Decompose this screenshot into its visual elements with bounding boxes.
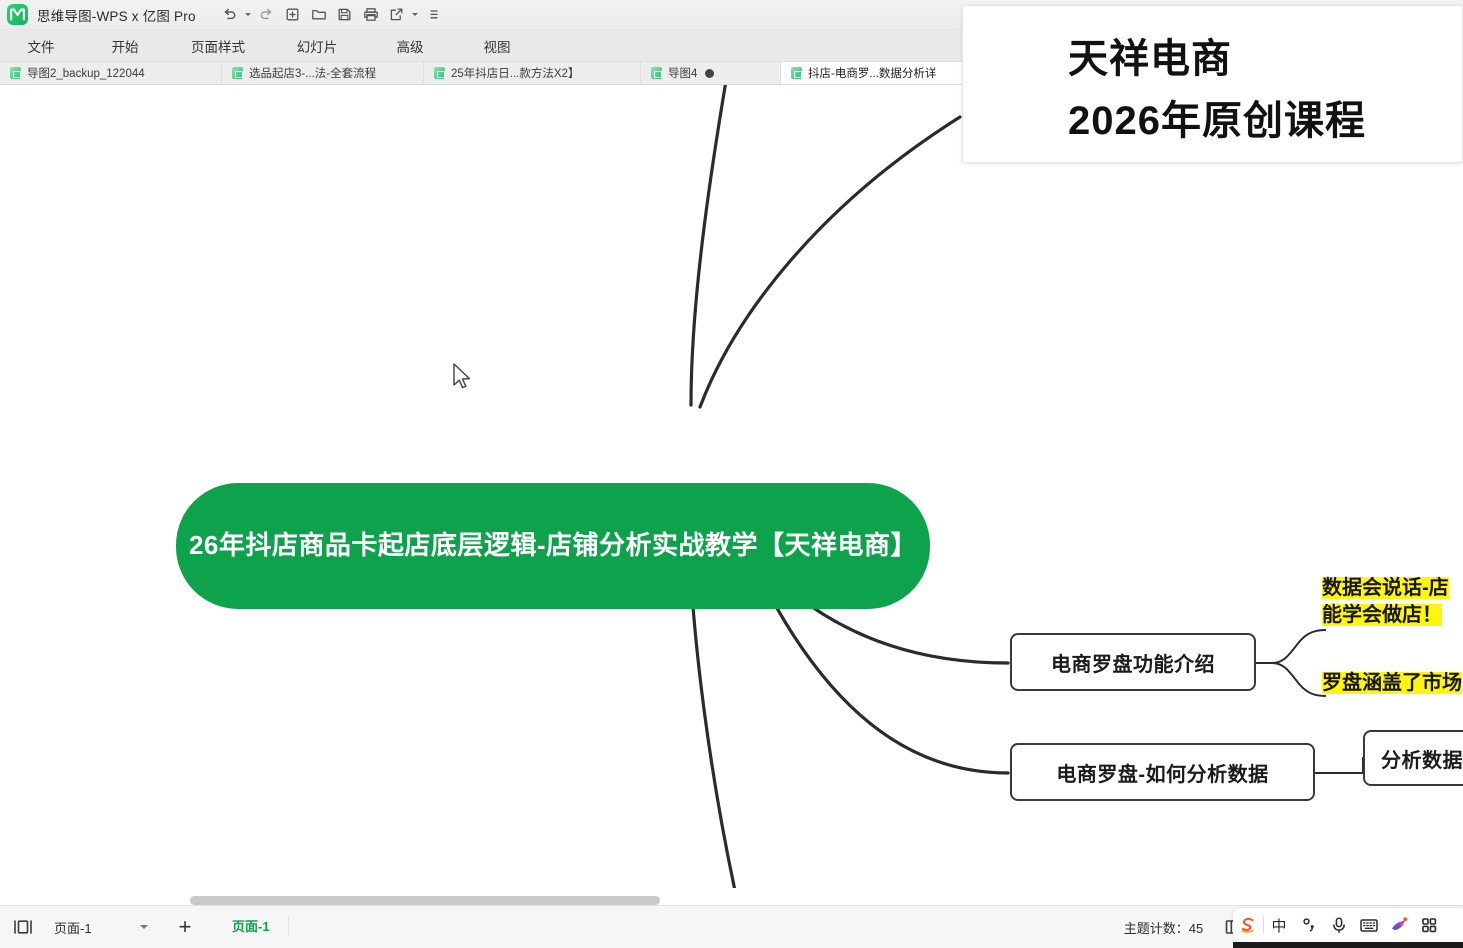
doc-tab-1[interactable]: 选品起店3-...法-全套流程 [222, 62, 424, 84]
chevron-down-icon [140, 925, 148, 929]
document-icon [651, 67, 662, 79]
doc-tab-label: 抖店-电商罗...数据分析详 [808, 65, 936, 81]
more-icon[interactable] [422, 4, 446, 26]
unsaved-indicator-icon [705, 69, 714, 78]
undo-icon[interactable] [218, 4, 242, 26]
mindmap-node-luopan-analysis[interactable]: 电商罗盘-如何分析数据 [1010, 743, 1315, 801]
wps-mindmap-icon [7, 4, 28, 25]
app-window: 思维导图-WPS x 亿图 Pro [0, 0, 1463, 948]
punctuation-icon[interactable] [1294, 910, 1324, 940]
sogou-logo-icon[interactable] [1233, 910, 1263, 940]
document-icon [434, 67, 445, 79]
mindmap-note-1[interactable]: 数据会说话-店罗盘涵盖了市场 [1322, 670, 1462, 697]
document-icon [10, 67, 21, 79]
mouse-cursor [451, 362, 475, 394]
doc-tab-label: 25年抖店日...款方法X2】 [451, 65, 579, 81]
doc-tab-2[interactable]: 25年抖店日...款方法X2】 [424, 62, 641, 84]
topic-count-value: 45 [1189, 921, 1203, 936]
ime-toolbar: 中 [1233, 908, 1463, 942]
horizontal-scrollbar-thumb[interactable] [190, 896, 660, 905]
panel-layout-icon[interactable] [0, 919, 46, 935]
toolbox-icon[interactable] [1384, 910, 1414, 940]
mindmap-note-0-line2: 能学会做店！ [1322, 604, 1442, 626]
menu-item-slides[interactable]: 幻灯片 [268, 32, 366, 60]
quick-access-toolbar [218, 4, 446, 26]
page-tab-1[interactable]: 页面-1 [214, 917, 289, 937]
doc-tab-label: 导图4 [668, 65, 697, 81]
add-page-button[interactable]: + [156, 914, 214, 940]
print-icon[interactable] [359, 4, 383, 26]
export-icon[interactable] [385, 4, 409, 26]
doc-tab-label: 导图2_backup_122044 [27, 65, 145, 81]
topic-count-label: 主题计数： [1124, 921, 1189, 936]
mindmap-note-0-line1: 数据会说话-店 [1322, 577, 1449, 599]
document-icon [232, 67, 243, 79]
voice-input-icon[interactable] [1324, 910, 1354, 940]
menu-item-advanced[interactable]: 高级 [366, 32, 454, 60]
topic-count: 主题计数：45 [1124, 918, 1203, 937]
mindmap-node-luopan-features[interactable]: 电商罗盘功能介绍 [1010, 633, 1256, 691]
mindmap-central-node[interactable]: 26年抖店商品卡起店底层逻辑-店铺分析实战教学【天祥电商】 [176, 483, 930, 609]
app-grid-icon[interactable] [1414, 910, 1444, 940]
taskbar-strip [1233, 942, 1463, 948]
page-selector-value: 页面-1 [54, 918, 92, 937]
watermark-line-1: 天祥电商 [1068, 28, 1462, 90]
menu-item-home[interactable]: 开始 [82, 32, 168, 60]
undo-dropdown-caret[interactable] [244, 4, 253, 26]
menu-item-view[interactable]: 视图 [454, 32, 540, 60]
chinese-mode-icon[interactable]: 中 [1264, 910, 1294, 940]
mindmap-canvas[interactable]: 26年抖店商品卡起店底层逻辑-店铺分析实战教学【天祥电商】 电商罗盘功能介绍 电… [0, 85, 1463, 888]
redo-icon[interactable] [255, 4, 279, 26]
document-icon [791, 67, 802, 79]
mindmap-note-0[interactable]: 数据会说话-店 能学会做店！ [1322, 575, 1449, 629]
open-icon[interactable] [307, 4, 331, 26]
menu-item-file[interactable]: 文件 [0, 32, 82, 60]
watermark-line-2: 2026年原创课程 [1068, 90, 1462, 152]
mindmap-note-1-text: 罗盘涵盖了市场 [1322, 672, 1462, 694]
soft-keyboard-icon[interactable] [1354, 910, 1384, 940]
mindmap-node-analyze-data[interactable]: 分析数据 [1363, 730, 1463, 786]
doc-tab-0[interactable]: 导图2_backup_122044 [0, 62, 222, 84]
export-dropdown-caret[interactable] [411, 4, 420, 26]
doc-tab-3[interactable]: 导图4 [641, 62, 781, 84]
course-watermark-card: 天祥电商 2026年原创课程 [962, 5, 1463, 163]
menu-item-pagestyle[interactable]: 页面样式 [168, 32, 268, 60]
doc-tab-label: 选品起店3-...法-全套流程 [249, 65, 376, 81]
page-selector-dropdown[interactable]: 页面-1 [46, 914, 156, 940]
new-icon[interactable] [281, 4, 305, 26]
save-icon[interactable] [333, 4, 357, 26]
window-title: 思维导图-WPS x 亿图 Pro [37, 5, 196, 25]
